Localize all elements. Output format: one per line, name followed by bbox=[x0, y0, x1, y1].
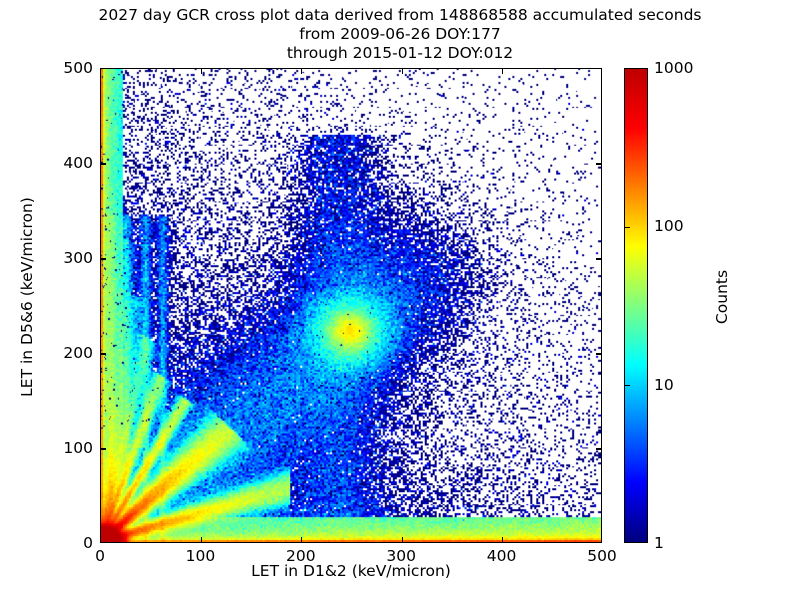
y-tick-label: 100 bbox=[38, 439, 93, 457]
x-tick-mark bbox=[502, 537, 503, 542]
y-tick-label: 300 bbox=[38, 249, 93, 267]
y-tick-label: 0 bbox=[38, 534, 93, 552]
colorbar-tick-label: 1 bbox=[654, 534, 664, 552]
scatter-heatmap bbox=[101, 69, 601, 542]
colorbar-tick-mark bbox=[625, 227, 630, 228]
colorbar-tick-mark bbox=[625, 385, 630, 386]
y-tick-mark-right bbox=[596, 258, 601, 259]
x-tick-mark-top bbox=[301, 69, 302, 74]
y-tick-mark bbox=[101, 258, 106, 259]
y-axis-label: LET in D5&6 (keV/micron) bbox=[18, 127, 36, 467]
y-tick-label: 500 bbox=[38, 59, 93, 77]
x-axis-label: LET in D1&2 (keV/micron) bbox=[100, 562, 602, 580]
y-tick-mark-right bbox=[596, 448, 601, 449]
colorbar-tick-label: 10 bbox=[654, 376, 674, 394]
x-tick-mark-top bbox=[201, 69, 202, 74]
colorbar-label: Counts bbox=[713, 197, 731, 397]
plot-area bbox=[100, 68, 602, 543]
colorbar bbox=[624, 68, 648, 543]
y-tick-mark-right bbox=[596, 163, 601, 164]
colorbar-tick-label: 100 bbox=[654, 217, 684, 235]
title-line-2: from 2009-06-26 DOY:177 bbox=[0, 25, 800, 44]
y-tick-mark bbox=[101, 163, 106, 164]
y-tick-label: 200 bbox=[38, 344, 93, 362]
y-tick-mark-right bbox=[596, 353, 601, 354]
colorbar-gradient bbox=[625, 69, 647, 542]
x-tick-mark-top bbox=[502, 69, 503, 74]
y-tick-mark bbox=[101, 353, 106, 354]
x-tick-mark bbox=[402, 537, 403, 542]
x-tick-mark-top bbox=[402, 69, 403, 74]
colorbar-tick-label: 1000 bbox=[654, 59, 693, 77]
chart-title: 2027 day GCR cross plot data derived fro… bbox=[0, 6, 800, 63]
title-line-1: 2027 day GCR cross plot data derived fro… bbox=[0, 6, 800, 25]
figure-canvas: 2027 day GCR cross plot data derived fro… bbox=[0, 0, 800, 600]
x-tick-mark bbox=[301, 537, 302, 542]
y-tick-mark bbox=[101, 448, 106, 449]
y-tick-label: 400 bbox=[38, 154, 93, 172]
x-tick-mark bbox=[201, 537, 202, 542]
